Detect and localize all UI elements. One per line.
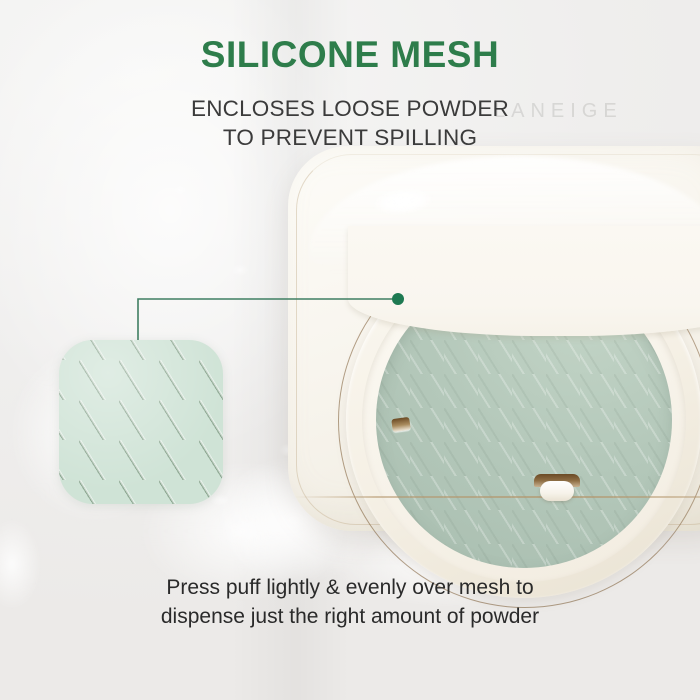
instruction-caption: Press puff lightly & evenly over mesh to… [0, 573, 700, 632]
page-subtitle: ENCLOSES LOOSE POWDER TO PREVENT SPILLIN… [0, 94, 700, 153]
latch-knob [540, 481, 574, 501]
page-title: SILICONE MESH [0, 36, 700, 73]
promo-image-canvas: LANEIGE SILICONE MESH ENCLOSES LOOSE POW… [0, 0, 700, 700]
sifter-ring-notch [391, 417, 411, 432]
compact-base-seam [294, 496, 700, 498]
compact-latch[interactable] [532, 474, 582, 500]
caption-line-2: dispense just the right amount of powder [0, 602, 700, 631]
subtitle-line-2: TO PREVENT SPILLING [0, 123, 700, 152]
mesh-zoom-swatch [59, 340, 223, 504]
swatch-shading [59, 340, 223, 504]
subtitle-line-1: ENCLOSES LOOSE POWDER [0, 94, 700, 123]
powder-compact [288, 146, 700, 531]
caption-line-1: Press puff lightly & evenly over mesh to [0, 573, 700, 602]
compact-lid-overhang [348, 226, 700, 336]
